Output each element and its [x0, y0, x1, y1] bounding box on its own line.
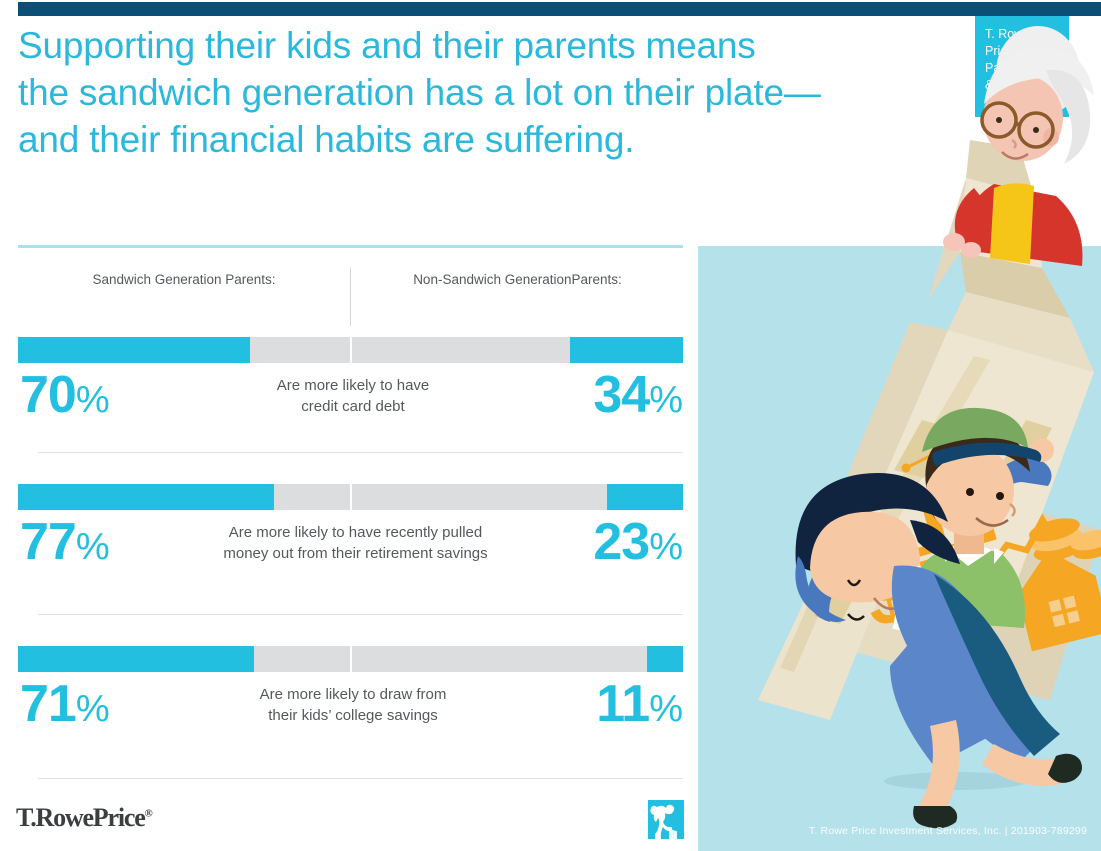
bar-track-left	[18, 484, 350, 510]
row-label: Are more likely to have credit card debt	[168, 375, 538, 417]
badge-line-2: Parents, Kids &	[985, 61, 1059, 92]
percent-symbol: %	[649, 688, 683, 730]
survey-badge: T. Rowe Price's Parents, Kids & Money Su…	[975, 16, 1069, 117]
row-label-line-1: Are more likely to have	[277, 377, 430, 394]
percent-symbol: %	[76, 526, 110, 568]
value-right: 11%	[596, 676, 683, 737]
row-divider	[38, 452, 683, 453]
t-rowe-price-bighorn-icon	[648, 800, 684, 839]
bar-track-left	[18, 337, 350, 363]
table-row: 71% Are more likely to draw from their k…	[18, 646, 683, 756]
bar-track-right	[352, 484, 683, 510]
bar-fill-left	[18, 646, 254, 672]
bar-fill-left	[18, 337, 250, 363]
percent-symbol: %	[76, 379, 110, 421]
column-headers: Sandwich Generation Parents: Non-Sandwic…	[18, 268, 683, 326]
row-label-line-1: Are more likely to draw from	[260, 686, 447, 703]
value-left: 71%	[20, 676, 110, 737]
badge-year: 2019	[985, 129, 1060, 146]
bar-track-right	[352, 337, 683, 363]
row-divider	[38, 778, 683, 779]
t-rowe-price-logo: T.RowePrice®	[16, 803, 153, 833]
bar-fill-right	[647, 646, 683, 672]
column-header-non-sandwich: Non-Sandwich GenerationParents:	[352, 272, 683, 287]
registered-mark: ®	[145, 807, 153, 819]
row-label-line-2: money out from their retirement savings	[223, 545, 487, 562]
bar-fill-left	[18, 484, 274, 510]
row-label-line-2: credit card debt	[301, 398, 404, 415]
value-left: 70%	[20, 367, 110, 428]
column-header-sandwich: Sandwich Generation Parents:	[18, 272, 350, 287]
top-accent-bar	[18, 2, 1101, 16]
row-divider	[38, 614, 683, 615]
table-row: 77% Are more likely to have recently pul…	[18, 484, 683, 594]
headline-line-2: the sandwich generation has a lot on the…	[18, 69, 918, 116]
headline-line-3: and their financial habits are suffering…	[18, 116, 918, 163]
page-title: Supporting their kids and their parents …	[18, 22, 918, 163]
bar-fill-right	[570, 337, 683, 363]
column-divider	[350, 268, 351, 326]
value-left: 77%	[20, 514, 110, 575]
badge-line-3: Money Survey	[985, 95, 1024, 126]
percent-symbol: %	[649, 526, 683, 568]
table-row: 70% Are more likely to have credit card …	[18, 337, 683, 447]
value-right: 34%	[593, 367, 683, 428]
value-right: 23%	[593, 514, 683, 575]
bar-track-right	[352, 646, 683, 672]
row-label-line-1: Are more likely to have recently pulled	[229, 524, 482, 541]
infographic-page: Supporting their kids and their parents …	[0, 0, 1101, 851]
section-divider-rule	[18, 245, 683, 248]
bar-track-left	[18, 646, 350, 672]
bar-fill-right	[607, 484, 683, 510]
headline-line-1: Supporting their kids and their parents …	[18, 22, 918, 69]
illustration-panel	[698, 246, 1101, 851]
row-label: Are more likely to have recently pulled …	[158, 522, 553, 564]
row-label: Are more likely to draw from their kids’…	[168, 684, 538, 726]
percent-symbol: %	[649, 379, 683, 421]
badge-line-1: T. Rowe Price's	[985, 27, 1030, 58]
percent-symbol: %	[76, 688, 110, 730]
row-label-line-2: their kids’ college savings	[268, 707, 438, 724]
